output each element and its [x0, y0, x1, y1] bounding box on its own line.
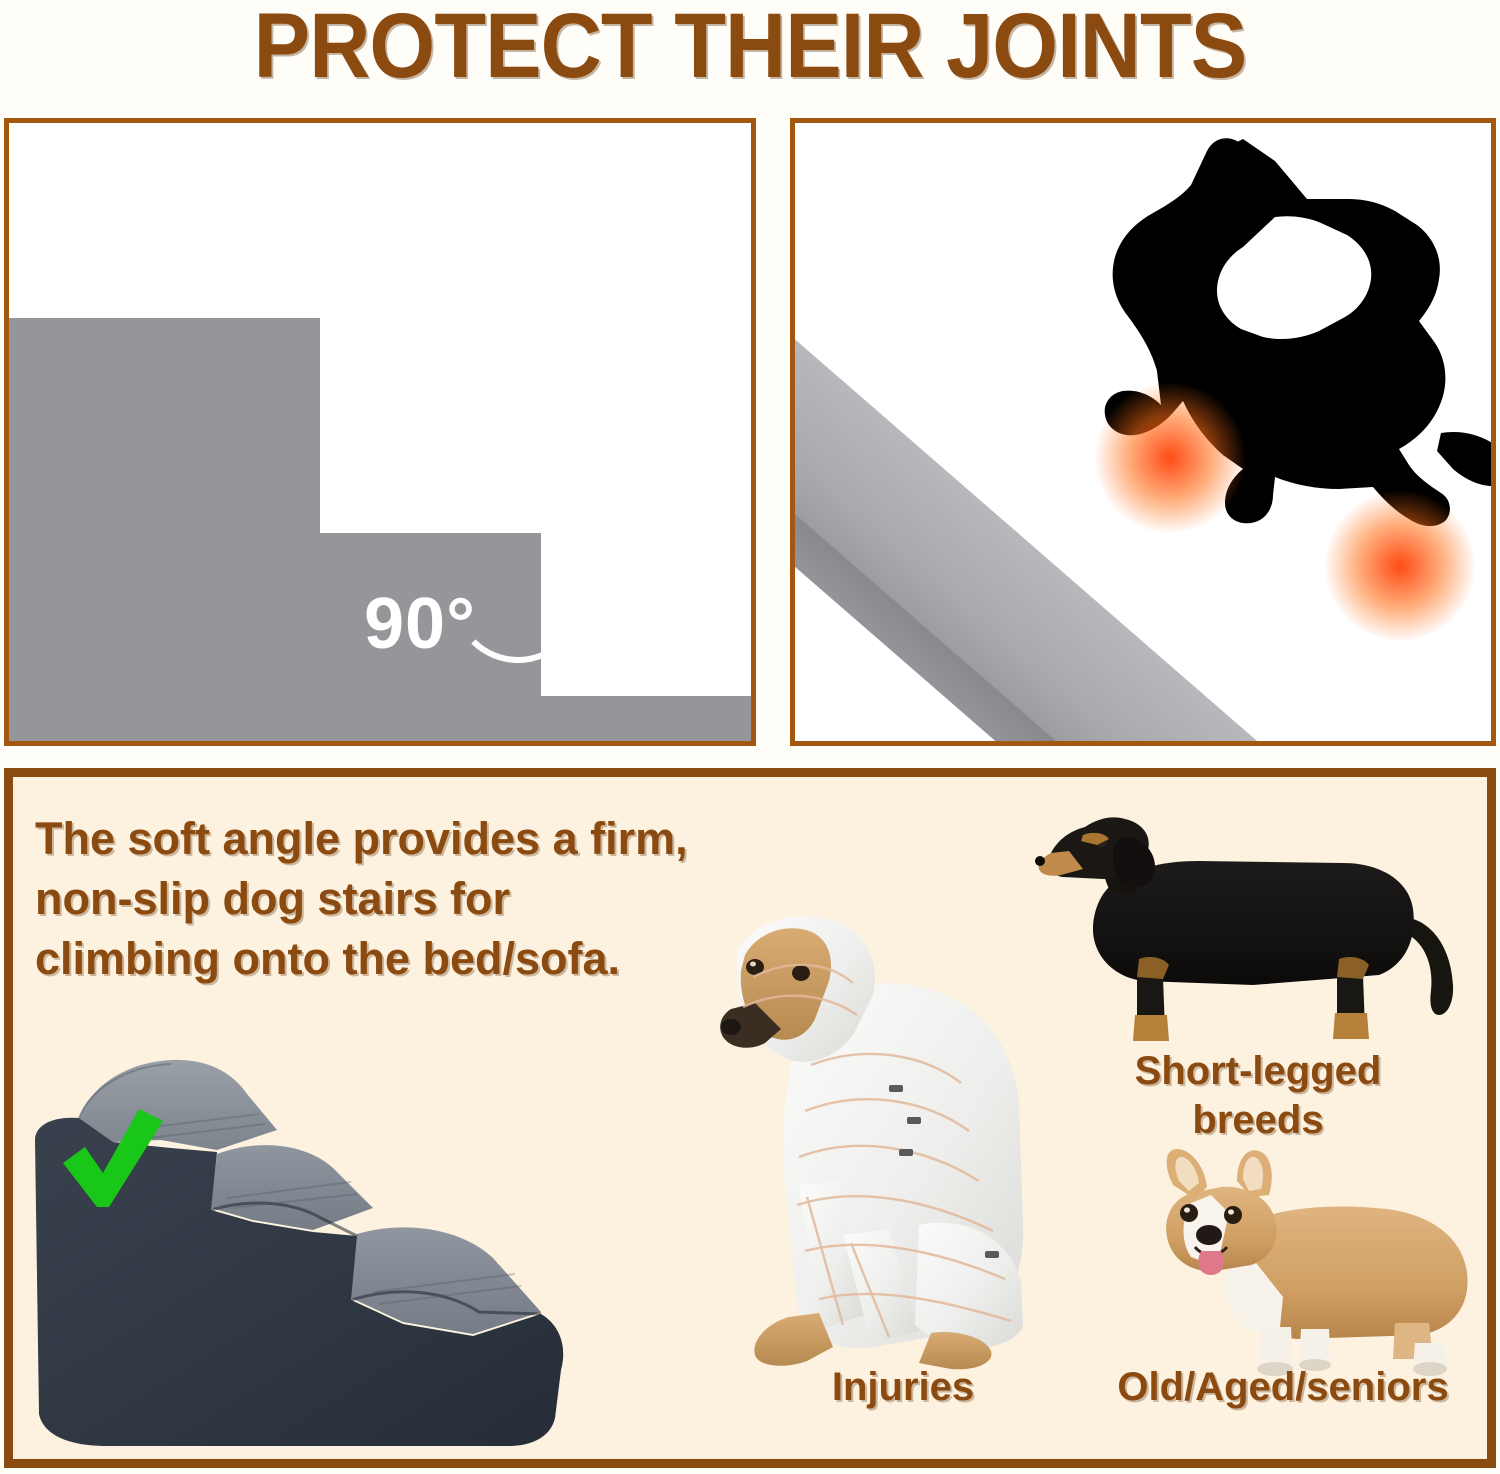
label-old-aged-seniors: Old/Aged/seniors [1053, 1365, 1496, 1410]
label-injuries: Injuries [713, 1365, 1093, 1410]
label-short-legged-breeds: Short-legged breeds [1048, 1047, 1468, 1145]
panel-solution: The soft angle provides a firm, non-slip… [4, 768, 1496, 1468]
foam-dog-stairs-icon [21, 1022, 601, 1462]
label-short-legged-line2: breeds [1048, 1096, 1468, 1145]
bandaged-dog-photo [693, 885, 1093, 1385]
infographic-page: PROTECT THEIR JOINTS 90° Difficulty of c… [0, 0, 1500, 1474]
dog-silhouette-icon [975, 133, 1496, 653]
promo-line-1: The soft angle provides a firm, [35, 809, 735, 869]
page-title: PROTECT THEIR JOINTS [60, 0, 1440, 98]
angle-label: 90° [364, 583, 476, 665]
label-short-legged-line1: Short-legged [1048, 1047, 1468, 1096]
panel-slippery-easy-to-fall: Slippery, easy to fall [790, 118, 1496, 746]
corgi-photo [1133, 1147, 1496, 1377]
promo-text: The soft angle provides a firm, non-slip… [35, 809, 735, 989]
panel-difficulty-of-climbing: 90° Difficulty of climbing [4, 118, 756, 746]
promo-line-3: climbing onto the bed/sofa. [35, 929, 735, 989]
stair-block-lower [4, 696, 756, 746]
promo-line-2: non-slip dog stairs for [35, 869, 735, 929]
green-check-icon [57, 1107, 167, 1212]
